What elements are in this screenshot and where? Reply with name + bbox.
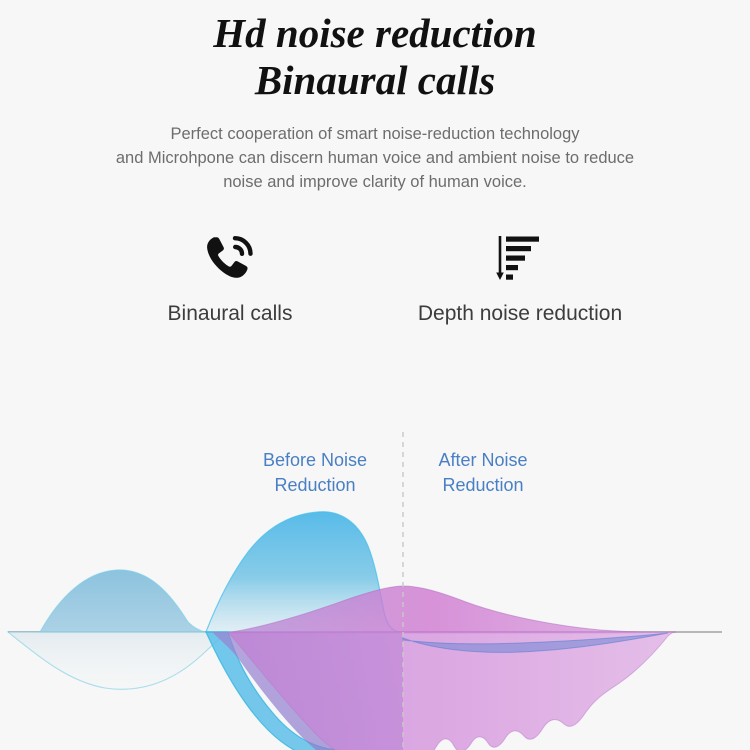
feature-row: Binaural calls Depth noise reduction xyxy=(0,228,750,326)
page-title: Hd noise reduction Binaural calls xyxy=(0,10,750,104)
product-feature-page: Hd noise reduction Binaural calls Perfec… xyxy=(0,0,750,750)
descending-bar-chart-icon xyxy=(493,228,547,288)
phone-call-icon xyxy=(201,228,259,288)
feature-depth-noise-reduction: Depth noise reduction xyxy=(375,228,665,326)
wave-blue-left-upper-lobe xyxy=(40,570,206,632)
page-title-line-2: Binaural calls xyxy=(0,57,750,104)
feature-binaural-calls: Binaural calls xyxy=(85,228,375,326)
feature-label-binaural-calls: Binaural calls xyxy=(168,302,293,326)
wave-blue-left-lower-lobe xyxy=(8,632,228,689)
description-line-2: and Microhpone can discern human voice a… xyxy=(0,146,750,170)
description-line-3: noise and improve clarity of human voice… xyxy=(0,170,750,194)
page-title-line-1: Hd noise reduction xyxy=(0,10,750,57)
feature-label-depth-noise-reduction: Depth noise reduction xyxy=(418,302,622,326)
waveform-comparison: Before Noise Reduction After Noise Reduc… xyxy=(0,400,750,750)
description-paragraph: Perfect cooperation of smart noise-reduc… xyxy=(0,122,750,194)
waveform-graphic xyxy=(0,400,750,750)
description-line-1: Perfect cooperation of smart noise-reduc… xyxy=(0,122,750,146)
